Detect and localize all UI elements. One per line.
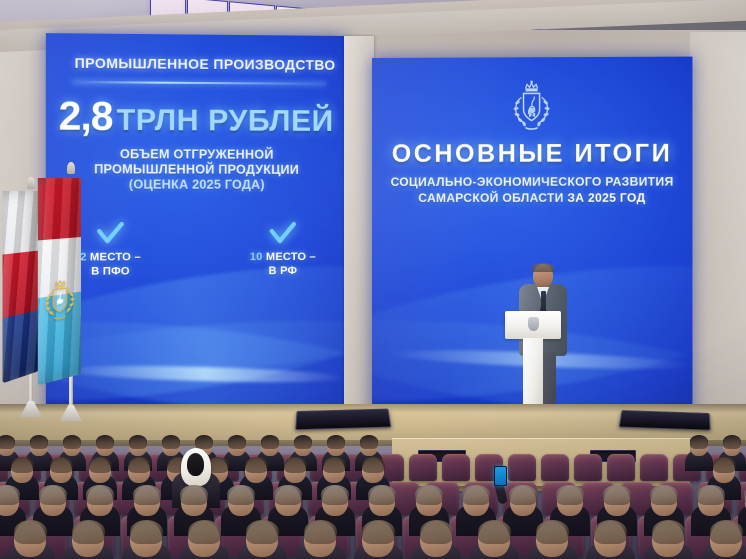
- auditorium-seat[interactable]: [442, 454, 470, 481]
- audience-member-hair: [0, 435, 15, 449]
- samara-oblast-coat-of-arms-icon: [508, 79, 554, 137]
- audience-member-hair: [323, 457, 346, 474]
- description-line-1: ОБЪЕМ ОТГРУЖЕННОЙ: [46, 147, 346, 163]
- audience-member-hair: [195, 435, 214, 449]
- auditorium-seat[interactable]: [508, 454, 536, 481]
- wall-right-panel: [690, 32, 746, 430]
- audience-member-hair: [294, 435, 313, 449]
- podium-top: [505, 311, 561, 339]
- check-icon: [95, 222, 126, 246]
- samara-coat-of-arms-icon: [43, 275, 76, 336]
- wall-center-column: [344, 36, 374, 412]
- audience-member-hair: [63, 435, 82, 449]
- audience-member-hair: [594, 520, 627, 544]
- flag-cloth: [38, 178, 81, 385]
- audience-member-hair: [556, 485, 583, 505]
- audience-member-hair: [462, 485, 489, 505]
- audience-member-hair: [180, 485, 207, 505]
- audience-member-hair: [39, 485, 66, 505]
- audience-member-hair: [723, 435, 742, 449]
- audience-member-hair: [321, 485, 348, 505]
- attendee-phone-screen[interactable]: [494, 466, 507, 486]
- audience-member-hair: [72, 520, 105, 544]
- right-screen-subtitle: СОЦИАЛЬНО-ЭКОНОМИЧЕСКОГО РАЗВИТИЯ САМАРС…: [372, 173, 692, 206]
- audience-member-hair: [690, 435, 709, 449]
- headline-figure: 2,8ТРЛН РУБЛЕЙ: [46, 94, 346, 141]
- audience-member-hair: [420, 520, 453, 544]
- flag-finial: [67, 162, 75, 174]
- ranking-stat-rf-rank: 10: [250, 251, 263, 263]
- audience-member-hair: [284, 457, 307, 474]
- podium-emblem-icon: [528, 317, 539, 331]
- auditorium-seat[interactable]: [640, 454, 668, 481]
- audience-member-hair: [362, 457, 385, 474]
- flag-stand: [20, 401, 42, 417]
- flag-finial: [27, 177, 35, 189]
- audience-member-hair: [360, 435, 379, 449]
- audience-member-hair: [228, 435, 247, 449]
- audience-member-hair: [245, 457, 268, 474]
- audience-member-hair: [50, 457, 73, 474]
- audience-member-hair: [274, 485, 301, 505]
- audience-member-hair: [128, 457, 151, 474]
- attendee-face-opening: [187, 453, 204, 476]
- audience-member-hair: [30, 435, 49, 449]
- audience-member-hair: [478, 520, 511, 544]
- audience-member-hair: [603, 485, 630, 505]
- check-icon: [268, 222, 298, 246]
- auditorium-seat[interactable]: [574, 454, 602, 481]
- audience-member-hair: [368, 485, 395, 505]
- audience-member-hair: [327, 435, 346, 449]
- auditorium-seat[interactable]: [607, 454, 635, 481]
- flag-cloth: [3, 191, 39, 383]
- audience-member-hair: [129, 435, 148, 449]
- audience-member-hair: [710, 520, 743, 544]
- right-screen-title: ОСНОВНЫЕ ИТОГИ: [372, 139, 692, 169]
- audience-member-hair: [650, 485, 677, 505]
- right-subtitle-line-1: СОЦИАЛЬНО-ЭКОНОМИЧЕСКОГО РАЗВИТИЯ: [372, 173, 692, 190]
- audience-member-hair: [362, 520, 395, 544]
- speaker-hair: [532, 263, 554, 272]
- right-subtitle-year: ЗА 2025 ГОД: [567, 191, 645, 205]
- emblem-container: [372, 79, 692, 143]
- ranking-stat-rf-line1: МЕСТО –: [266, 251, 316, 263]
- audience-member-hair: [536, 520, 569, 544]
- audience-member-hair: [14, 520, 47, 544]
- right-subtitle-region: САМАРСКОЙ ОБЛАСТИ: [418, 191, 563, 205]
- audience-member-hair: [188, 520, 221, 544]
- audience-member-hair: [86, 485, 113, 505]
- audience-member-hair: [509, 485, 536, 505]
- audience-member-hair: [304, 520, 337, 544]
- audience-member-hair: [162, 435, 181, 449]
- headline-number: 2,8: [59, 94, 113, 139]
- headline-unit: ТРЛН РУБЛЕЙ: [117, 104, 334, 138]
- auditorium-seat[interactable]: [541, 454, 569, 481]
- header-divider: [73, 81, 326, 85]
- confidence-monitor-right: [619, 410, 711, 430]
- flag-stand: [60, 405, 82, 421]
- audience-member-hair: [227, 485, 254, 505]
- ranking-stat-rf-label: 10 МЕСТО – В РФ: [237, 251, 329, 278]
- audience-member-hair: [415, 485, 442, 505]
- audience-member-hair: [652, 520, 685, 544]
- audience-member-hair: [89, 457, 112, 474]
- audience-member-hair: [0, 485, 20, 505]
- audience-member-hair: [133, 485, 160, 505]
- ranking-stat-rf: 10 МЕСТО – В РФ: [237, 222, 329, 278]
- audience-member-hair: [713, 457, 736, 474]
- audience-member-hair: [96, 435, 115, 449]
- auditorium-seat[interactable]: [409, 454, 437, 481]
- audience-seating: [0, 434, 746, 559]
- audience-member-hair: [697, 485, 724, 505]
- right-subtitle-line-2: САМАРСКОЙ ОБЛАСТИ ЗА 2025 ГОД: [372, 190, 692, 206]
- confidence-monitor-left: [295, 409, 391, 431]
- audience-member-hair: [11, 457, 34, 474]
- audience-member-hair: [246, 520, 279, 544]
- audience-member-hair: [261, 435, 280, 449]
- left-screen-header-text: ПРОМЫШЛЕННОЕ ПРОИЗВОДСТВО: [75, 56, 329, 73]
- samara-oblast-flag: [44, 173, 98, 421]
- conference-hall-scene: ПРОМЫШЛЕННОЕ ПРОИЗВОДСТВО 2,8ТРЛН РУБЛЕЙ…: [0, 0, 746, 559]
- ranking-stat-rf-line2: В РФ: [269, 265, 298, 277]
- left-screen-header: ПРОМЫШЛЕННОЕ ПРОИЗВОДСТВО: [75, 56, 324, 73]
- audience-member-hair: [130, 520, 163, 544]
